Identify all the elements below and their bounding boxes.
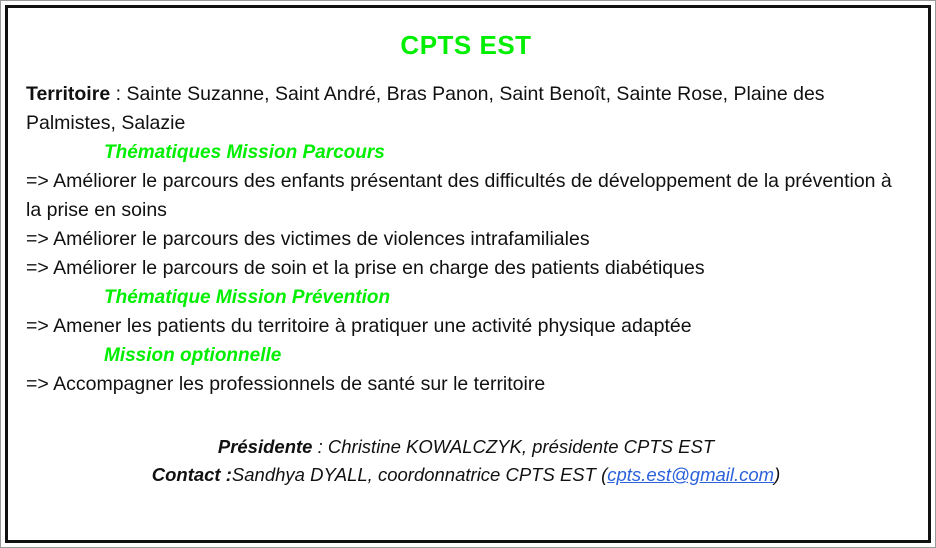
president-role-label: Présidente <box>218 436 313 457</box>
slide-body: Territoire : Sainte Suzanne, Saint André… <box>26 80 906 399</box>
slide-frame: CPTS EST Territoire : Sainte Suzanne, Sa… <box>0 0 936 548</box>
contact-name: Sandhya DYALL, coordonnatrice CPTS EST ( <box>232 464 607 485</box>
contact-block: Présidente : Christine KOWALCZYK, présid… <box>26 433 906 489</box>
president-name: Christine KOWALCZYK, présidente CPTS EST <box>328 436 714 457</box>
section-heading-mission-optionnelle: Mission optionnelle <box>26 341 906 370</box>
page-title: CPTS EST <box>26 28 906 62</box>
territory-paragraph: Territoire : Sainte Suzanne, Saint André… <box>26 80 906 138</box>
president-line: Présidente : Christine KOWALCZYK, présid… <box>26 433 906 461</box>
bullet-accompagner-professionnels: => Accompagner les professionnels de san… <box>26 370 906 399</box>
page-title-text: CPTS EST <box>400 30 531 60</box>
bullet-parcours-diabetiques: => Améliorer le parcours de soin et la p… <box>26 254 906 283</box>
territory-separator: : <box>110 83 126 105</box>
section-heading-mission-parcours: Thématiques Mission Parcours <box>26 138 906 167</box>
slide-inner-border: CPTS EST Territoire : Sainte Suzanne, Sa… <box>5 5 931 543</box>
slide-content: CPTS EST Territoire : Sainte Suzanne, Sa… <box>8 8 928 540</box>
bullet-parcours-enfants: => Améliorer le parcours des enfants pré… <box>26 167 906 225</box>
section-heading-mission-prevention: Thématique Mission Prévention <box>26 283 906 312</box>
territory-value: Sainte Suzanne, Saint André, Bras Panon,… <box>26 83 825 134</box>
contact-paren-close: ) <box>774 464 780 485</box>
contact-role-label: Contact : <box>152 464 232 485</box>
president-separator: : <box>312 436 327 457</box>
bullet-parcours-violences: => Améliorer le parcours des victimes de… <box>26 225 906 254</box>
contact-email-link[interactable]: cpts.est@gmail.com <box>607 464 774 485</box>
territory-label: Territoire <box>26 83 110 105</box>
contact-line: Contact :Sandhya DYALL, coordonnatrice C… <box>26 461 906 489</box>
bullet-activite-physique: => Amener les patients du territoire à p… <box>26 312 906 341</box>
